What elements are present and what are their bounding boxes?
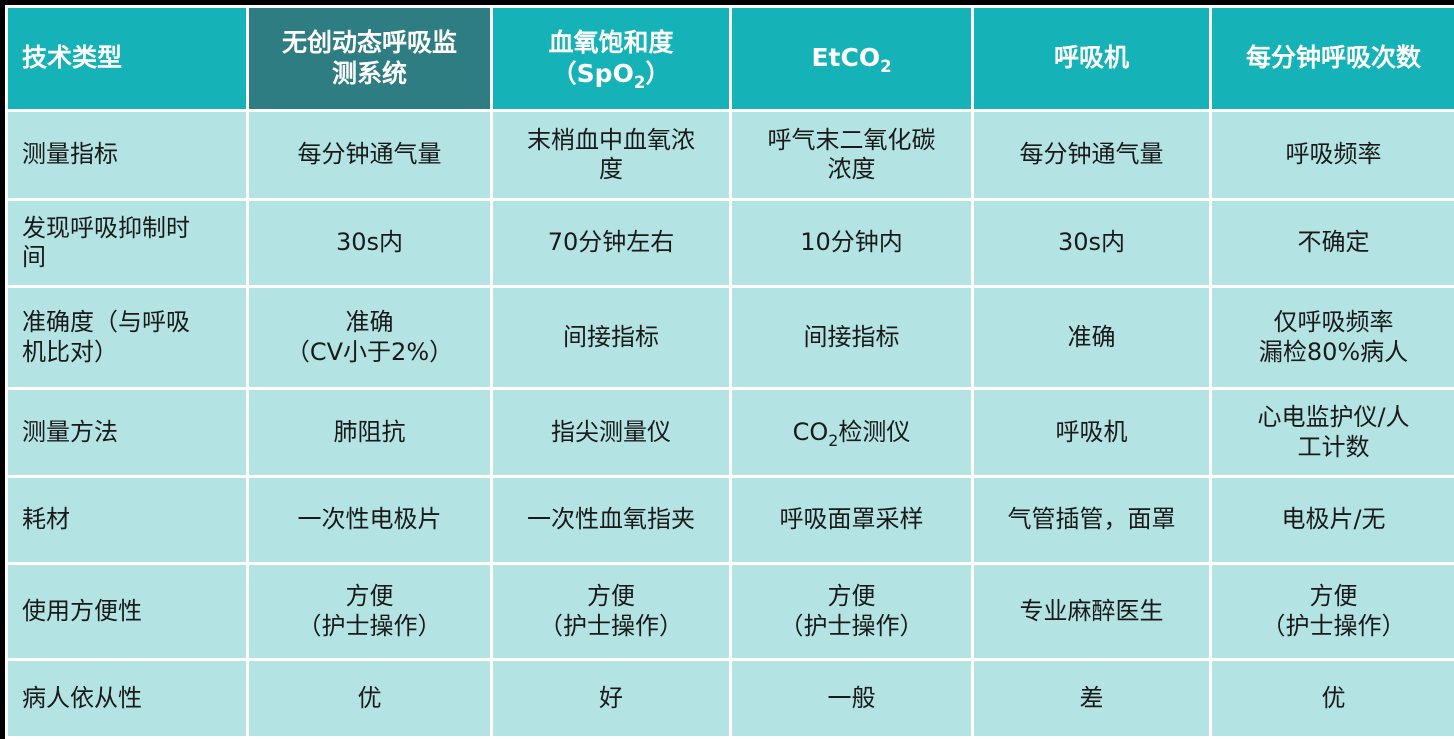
- cell-accuracy-col1: 准确（CV小于2%）: [249, 288, 490, 387]
- cell-line: 漏检80%病人: [1218, 338, 1449, 367]
- cell-patient-compliance-col4: 差: [974, 661, 1209, 736]
- cell-line: （护士操作）: [255, 612, 484, 641]
- cell-ease-of-use-col4: 专业麻醉医生: [974, 565, 1209, 658]
- cell-measurement-indicator-col1: 每分钟通气量: [249, 112, 490, 198]
- cell-measurement-indicator-col5: 呼吸频率: [1212, 112, 1454, 198]
- cell-measurement-method-col4: 呼吸机: [974, 390, 1209, 475]
- cell-line: （护士操作）: [1218, 612, 1449, 641]
- cell-patient-compliance-col3: 一般: [732, 661, 971, 736]
- cell-line: 末梢血中血氧浓: [499, 126, 723, 155]
- row-header-measurement-indicator: 测量指标: [8, 112, 246, 198]
- cell-consumables-col5: 电极片/无: [1212, 478, 1454, 562]
- cell-line: CO2检测仪: [738, 418, 965, 447]
- cell-line: 每分钟通气量: [980, 140, 1203, 169]
- column-header-spo2-line1: 血氧饱和度: [499, 28, 723, 59]
- cell-measurement-indicator-col4: 每分钟通气量: [974, 112, 1209, 198]
- column-header-spo2: 血氧饱和度 （SpO2）: [493, 8, 729, 109]
- column-header-spo2-subscript: 2: [634, 73, 645, 92]
- cell-detection-time-col1: 30s内: [249, 201, 490, 285]
- row-header-ease-of-use: 使用方便性: [8, 565, 246, 658]
- row-header-line: 测量方法: [22, 418, 240, 447]
- column-header-nirm-line1: 无创动态呼吸监: [255, 28, 484, 59]
- cell-line: 10分钟内: [738, 228, 965, 257]
- cell-line: 间接指标: [738, 323, 965, 352]
- column-header-etco2-prefix: EtCO: [811, 43, 880, 72]
- cell-line: 一次性电极片: [255, 505, 484, 534]
- cell-line: 电极片/无: [1218, 505, 1449, 534]
- column-header-respiration-rate-label: 每分钟呼吸次数: [1246, 43, 1421, 72]
- cell-measurement-method-col2: 指尖测量仪: [493, 390, 729, 475]
- cell-line: 优: [255, 684, 484, 713]
- cell-line: 方便: [1218, 582, 1449, 611]
- cell-patient-compliance-col5: 优: [1212, 661, 1454, 736]
- cell-detection-time-col5: 不确定: [1212, 201, 1454, 285]
- cell-measurement-method-col3: CO2检测仪: [732, 390, 971, 475]
- table-row: 测量指标每分钟通气量末梢血中血氧浓度呼气末二氧化碳浓度每分钟通气量呼吸频率: [8, 112, 1454, 198]
- cell-ease-of-use-col2: 方便（护士操作）: [493, 565, 729, 658]
- row-header-line: 机比对）: [22, 338, 240, 367]
- cell-consumables-col3: 呼吸面罩采样: [732, 478, 971, 562]
- cell-line: 方便: [738, 582, 965, 611]
- table-header: 技术类型 无创动态呼吸监 测系统 血氧饱和度 （SpO2） EtCO2 呼吸机: [8, 8, 1454, 109]
- column-header-noninvasive-respiratory-monitor: 无创动态呼吸监 测系统: [249, 8, 490, 109]
- cell-line: 不确定: [1218, 228, 1449, 257]
- cell-accuracy-col4: 准确: [974, 288, 1209, 387]
- row-header-patient-compliance: 病人依从性: [8, 661, 246, 736]
- cell-line: 呼吸频率: [1218, 140, 1449, 169]
- column-header-technology-type: 技术类型: [8, 8, 246, 109]
- cell-line: 好: [499, 684, 723, 713]
- row-header-measurement-method: 测量方法: [8, 390, 246, 475]
- cell-line: 专业麻醉医生: [980, 597, 1203, 626]
- cell-ease-of-use-col1: 方便（护士操作）: [249, 565, 490, 658]
- cell-accuracy-col5: 仅呼吸频率漏检80%病人: [1212, 288, 1454, 387]
- column-header-technology-type-label: 技术类型: [22, 43, 122, 72]
- column-header-ventilator-label: 呼吸机: [1054, 43, 1129, 72]
- cell-line: 工计数: [1218, 433, 1449, 462]
- cell-ease-of-use-col5: 方便（护士操作）: [1212, 565, 1454, 658]
- cell-patient-compliance-col1: 优: [249, 661, 490, 736]
- cell-line: 气管插管，面罩: [980, 505, 1203, 534]
- row-header-consumables: 耗材: [8, 478, 246, 562]
- cell-line: 呼吸面罩采样: [738, 505, 965, 534]
- row-header-line: 耗材: [22, 505, 240, 534]
- cell-line: 度: [499, 155, 723, 184]
- column-header-spo2-line2: （SpO2）: [499, 59, 723, 90]
- cell-accuracy-col3: 间接指标: [732, 288, 971, 387]
- comparison-table-container: 技术类型 无创动态呼吸监 测系统 血氧饱和度 （SpO2） EtCO2 呼吸机: [5, 5, 1449, 716]
- cell-line: 一般: [738, 684, 965, 713]
- row-header-line: 使用方便性: [22, 597, 240, 626]
- cell-consumables-col4: 气管插管，面罩: [974, 478, 1209, 562]
- technology-comparison-table: 技术类型 无创动态呼吸监 测系统 血氧饱和度 （SpO2） EtCO2 呼吸机: [5, 5, 1454, 739]
- cell-detection-time-col4: 30s内: [974, 201, 1209, 285]
- cell-line: 一次性血氧指夹: [499, 505, 723, 534]
- cell-line: 肺阻抗: [255, 418, 484, 447]
- table-row: 耗材一次性电极片一次性血氧指夹呼吸面罩采样气管插管，面罩电极片/无: [8, 478, 1454, 562]
- cell-consumables-col1: 一次性电极片: [249, 478, 490, 562]
- column-header-respiration-rate: 每分钟呼吸次数: [1212, 8, 1454, 109]
- cell-line: 方便: [255, 582, 484, 611]
- cell-measurement-method-col5: 心电监护仪/人工计数: [1212, 390, 1454, 475]
- cell-line: 准确: [255, 308, 484, 337]
- cell-line: 30s内: [980, 228, 1203, 257]
- cell-line: 心电监护仪/人: [1218, 403, 1449, 432]
- cell-line: 优: [1218, 684, 1449, 713]
- cell-line: 每分钟通气量: [255, 140, 484, 169]
- table-row: 发现呼吸抑制时间30s内70分钟左右10分钟内30s内不确定: [8, 201, 1454, 285]
- cell-accuracy-col2: 间接指标: [493, 288, 729, 387]
- cell-patient-compliance-col2: 好: [493, 661, 729, 736]
- cell-line: 准确: [980, 323, 1203, 352]
- cell-line: 呼气末二氧化碳: [738, 126, 965, 155]
- header-row: 技术类型 无创动态呼吸监 测系统 血氧饱和度 （SpO2） EtCO2 呼吸机: [8, 8, 1454, 109]
- cell-line: 指尖测量仪: [499, 418, 723, 447]
- column-header-ventilator: 呼吸机: [974, 8, 1209, 109]
- table-row: 准确度（与呼吸机比对）准确（CV小于2%）间接指标间接指标准确仅呼吸频率漏检80…: [8, 288, 1454, 387]
- column-header-nirm-line2: 测系统: [255, 59, 484, 90]
- row-header-accuracy: 准确度（与呼吸机比对）: [8, 288, 246, 387]
- row-header-line: 准确度（与呼吸: [22, 308, 240, 337]
- column-header-etco2-subscript: 2: [880, 57, 891, 76]
- table-row: 病人依从性优好一般差优: [8, 661, 1454, 736]
- column-header-spo2-prefix: （SpO: [552, 59, 634, 88]
- cell-line: 70分钟左右: [499, 228, 723, 257]
- cell-line: 差: [980, 684, 1203, 713]
- cell-line: 30s内: [255, 228, 484, 257]
- cell-measurement-indicator-col2: 末梢血中血氧浓度: [493, 112, 729, 198]
- column-header-etco2: EtCO2: [732, 8, 971, 109]
- cell-line: 呼吸机: [980, 418, 1203, 447]
- row-header-line: 测量指标: [22, 140, 240, 169]
- cell-line: 仅呼吸频率: [1218, 308, 1449, 337]
- cell-line: （护士操作）: [499, 612, 723, 641]
- cell-line: 间接指标: [499, 323, 723, 352]
- column-header-spo2-suffix: ）: [645, 59, 670, 88]
- table-body: 测量指标每分钟通气量末梢血中血氧浓度呼气末二氧化碳浓度每分钟通气量呼吸频率发现呼…: [8, 112, 1454, 736]
- row-header-line: 发现呼吸抑制时: [22, 214, 240, 243]
- cell-consumables-col2: 一次性血氧指夹: [493, 478, 729, 562]
- cell-detection-time-col2: 70分钟左右: [493, 201, 729, 285]
- cell-line: 浓度: [738, 155, 965, 184]
- cell-measurement-indicator-col3: 呼气末二氧化碳浓度: [732, 112, 971, 198]
- chemical-subscript: 2: [828, 431, 838, 450]
- cell-measurement-method-col1: 肺阻抗: [249, 390, 490, 475]
- row-header-line: 病人依从性: [22, 684, 240, 713]
- cell-ease-of-use-col3: 方便（护士操作）: [732, 565, 971, 658]
- table-row: 测量方法肺阻抗指尖测量仪CO2检测仪呼吸机心电监护仪/人工计数: [8, 390, 1454, 475]
- row-header-detection-time: 发现呼吸抑制时间: [8, 201, 246, 285]
- row-header-line: 间: [22, 243, 240, 272]
- cell-line: （护士操作）: [738, 612, 965, 641]
- cell-detection-time-col3: 10分钟内: [732, 201, 971, 285]
- cell-line: 方便: [499, 582, 723, 611]
- cell-line: （CV小于2%）: [255, 338, 484, 367]
- table-row: 使用方便性方便（护士操作）方便（护士操作）方便（护士操作）专业麻醉医生方便（护士…: [8, 565, 1454, 658]
